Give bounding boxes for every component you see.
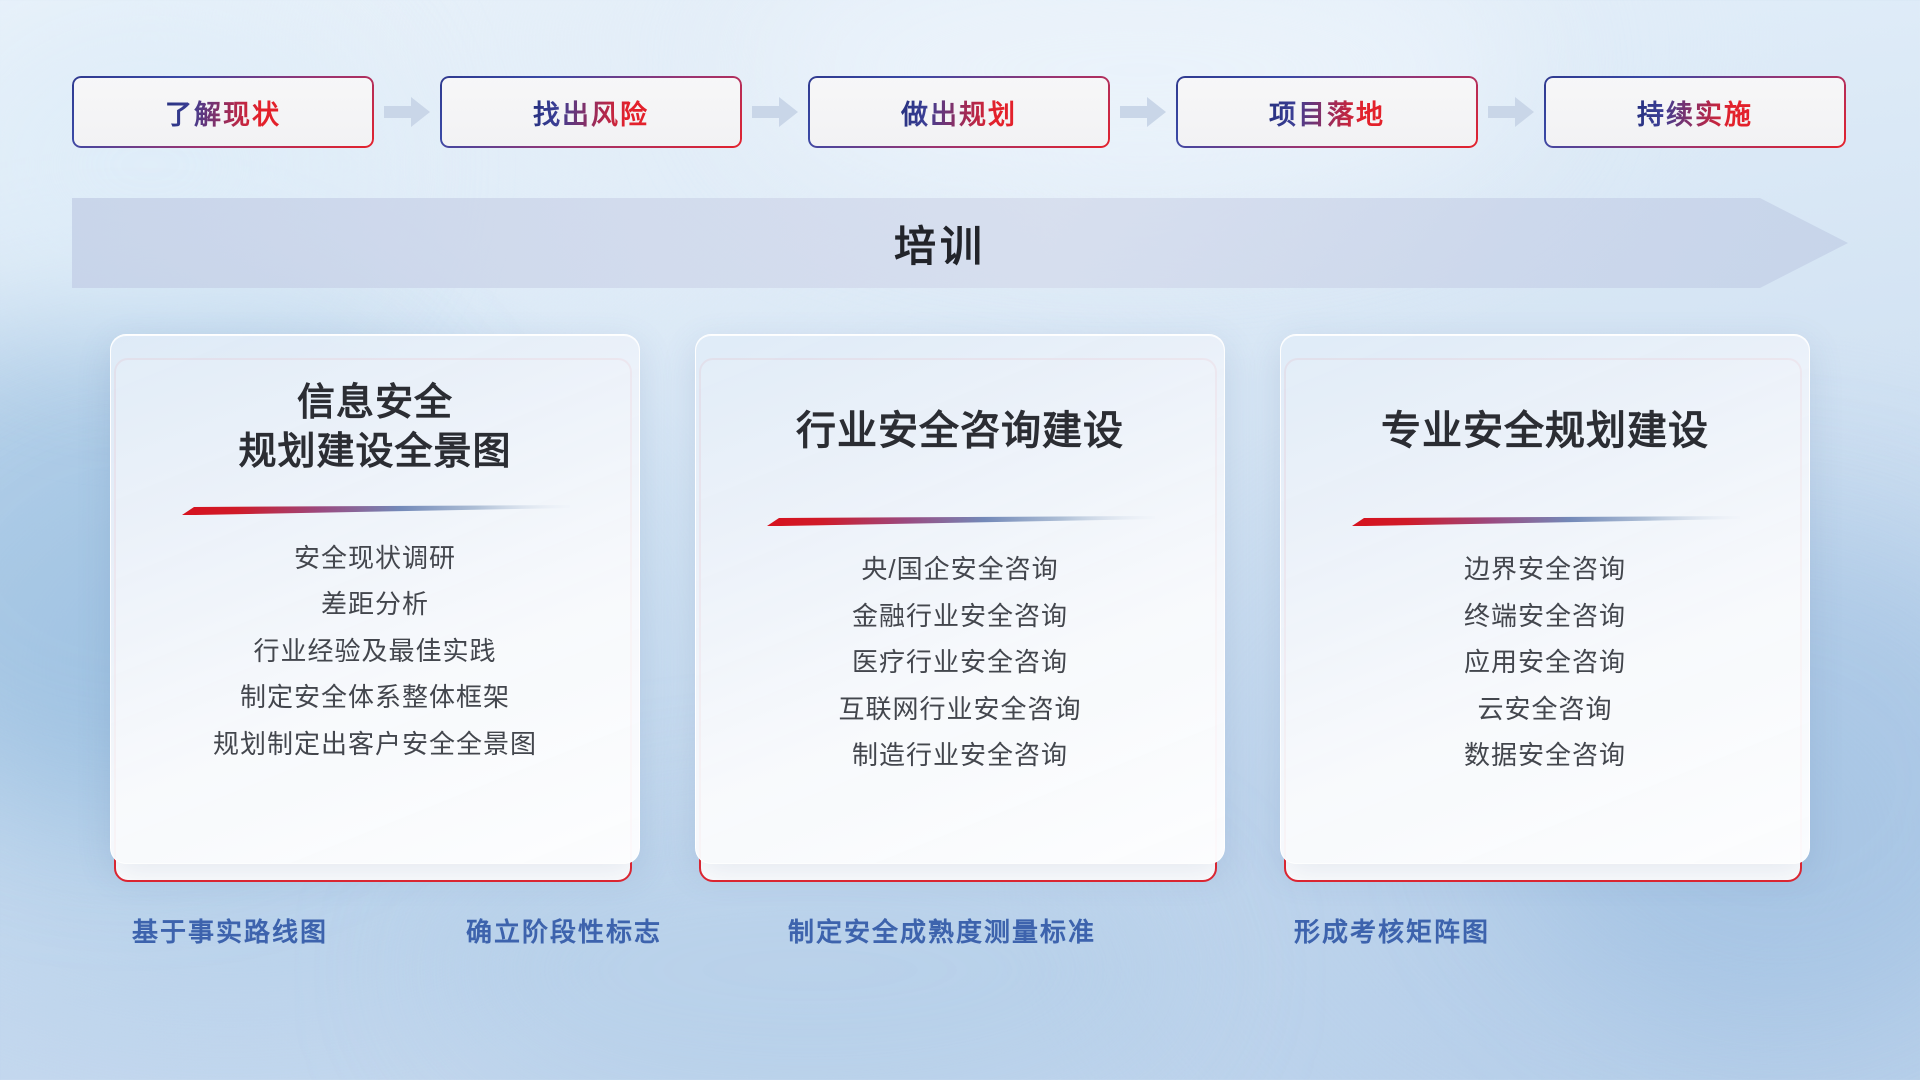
arrow-right-icon xyxy=(374,76,440,148)
process-step-label: 项目落地 xyxy=(1269,93,1385,132)
arrow-right-icon xyxy=(742,76,808,148)
process-step-label: 做出规划 xyxy=(901,93,1017,132)
process-step-label: 持续实施 xyxy=(1637,93,1753,132)
arrow-right-icon xyxy=(1478,76,1544,148)
caption-assessment-matrix: 形成考核矩阵图 xyxy=(1294,912,1490,949)
feature-card-1[interactable]: 信息安全 规划建设全景图 xyxy=(110,334,640,864)
card-title-line: 专业安全规划建设 xyxy=(1381,405,1709,457)
list-item: 数据安全咨询 xyxy=(1464,739,1626,772)
card-title: 专业安全规划建设 xyxy=(1381,405,1709,457)
list-item: 制定安全体系整体框架 xyxy=(240,681,510,714)
card-item-list: 边界安全咨询 终端安全咨询 应用安全咨询 云安全咨询 数据安全咨询 xyxy=(1307,553,1783,772)
feature-card-row: 信息安全 规划建设全景图 xyxy=(110,334,1810,890)
list-item: 边界安全咨询 xyxy=(1464,553,1626,586)
list-item: 差距分析 xyxy=(321,588,429,621)
caption-milestone: 确立阶段性标志 xyxy=(466,912,662,949)
card-title-line: 规划建设全景图 xyxy=(238,428,511,477)
training-banner: 培训 xyxy=(72,198,1848,288)
feature-card-3-wrap: 专业安全规划建设 xyxy=(1280,334,1810,890)
process-step-5[interactable]: 持续实施 xyxy=(1544,76,1846,148)
feature-card-2[interactable]: 行业安全咨询建设 xyxy=(695,334,1225,864)
process-step-4[interactable]: 项目落地 xyxy=(1176,76,1478,148)
feature-card-3[interactable]: 专业安全规划建设 xyxy=(1280,334,1810,864)
card-title: 信息安全 规划建设全景图 xyxy=(238,379,511,478)
list-item: 医疗行业安全咨询 xyxy=(852,646,1068,679)
list-item: 互联网行业安全咨询 xyxy=(838,693,1081,726)
feature-card-2-wrap: 行业安全咨询建设 xyxy=(695,334,1225,890)
caption-roadmap: 基于事实路线图 xyxy=(132,912,328,949)
list-item: 云安全咨询 xyxy=(1477,693,1612,726)
list-item: 金融行业安全咨询 xyxy=(852,600,1068,633)
card-divider xyxy=(1350,515,1740,527)
card-title: 行业安全咨询建设 xyxy=(796,405,1124,457)
feature-card-1-wrap: 信息安全 规划建设全景图 xyxy=(110,334,640,890)
list-item: 终端安全咨询 xyxy=(1464,600,1626,633)
process-step-row: 了解现状 找出风险 做出规划 项目落地 持续实施 xyxy=(72,76,1848,148)
process-step-1[interactable]: 了解现状 xyxy=(72,76,374,148)
list-item: 央/国企安全咨询 xyxy=(861,553,1058,586)
card-divider xyxy=(180,504,570,516)
card-divider xyxy=(765,515,1155,527)
list-item: 规划制定出客户安全全景图 xyxy=(213,728,537,761)
list-item: 应用安全咨询 xyxy=(1464,646,1626,679)
list-item: 制造行业安全咨询 xyxy=(852,739,1068,772)
caption-row: 基于事实路线图 确立阶段性标志 制定安全成熟度测量标准 形成考核矩阵图 xyxy=(0,912,1920,968)
card-item-list: 安全现状调研 差距分析 行业经验及最佳实践 制定安全体系整体框架 规划制定出客户… xyxy=(137,542,613,761)
list-item: 行业经验及最佳实践 xyxy=(253,635,496,668)
card-title-line: 信息安全 xyxy=(238,379,511,428)
process-step-2[interactable]: 找出风险 xyxy=(440,76,742,148)
caption-maturity-standard: 制定安全成熟度测量标准 xyxy=(788,912,1096,949)
card-title-line: 行业安全咨询建设 xyxy=(796,405,1124,457)
list-item: 安全现状调研 xyxy=(294,542,456,575)
arrow-right-icon xyxy=(1110,76,1176,148)
banner-title: 培训 xyxy=(72,198,1848,288)
card-item-list: 央/国企安全咨询 金融行业安全咨询 医疗行业安全咨询 互联网行业安全咨询 制造行… xyxy=(722,553,1198,772)
process-step-label: 找出风险 xyxy=(533,93,649,132)
process-step-label: 了解现状 xyxy=(165,93,281,132)
process-step-3[interactable]: 做出规划 xyxy=(808,76,1110,148)
